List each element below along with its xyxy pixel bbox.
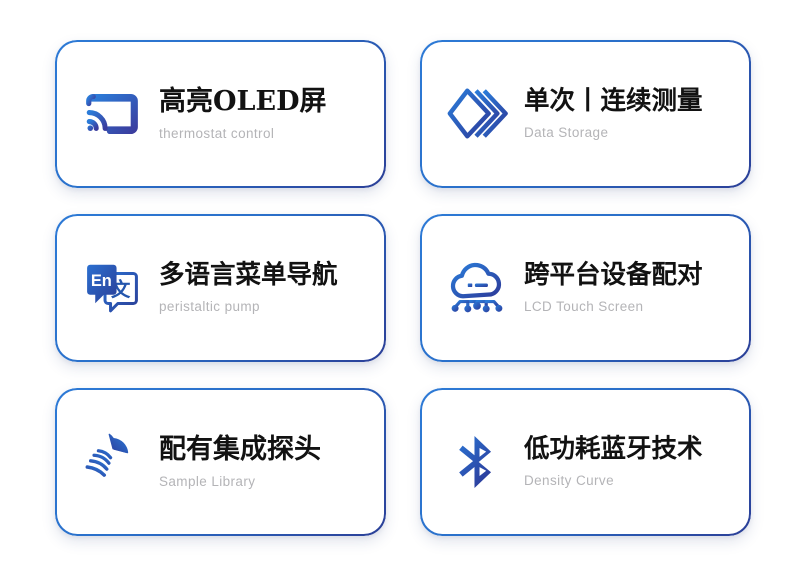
card-text: 配有集成探头 Sample Library (159, 434, 368, 491)
card-subtitle: peristaltic pump (159, 299, 368, 315)
feature-card-measurement-mode[interactable]: 单次丨连续测量 Data Storage (420, 40, 751, 188)
feature-card-multilingual-menu[interactable]: 文 En 多语言菜单导航 peristaltic pump (55, 214, 386, 362)
feature-card-cross-platform-pairing[interactable]: 跨平台设备配对 LCD Touch Screen (420, 214, 751, 362)
cloud-network-icon (440, 251, 514, 325)
translate-icon: 文 En (75, 251, 149, 325)
card-title: 跨平台设备配对 (524, 261, 733, 291)
bluetooth-icon (440, 425, 514, 499)
feature-card-oled-screen[interactable]: 高亮OLED屏 thermostat control (55, 40, 386, 188)
feature-card-integrated-probe[interactable]: 配有集成探头 Sample Library (55, 388, 386, 536)
translate-source-label: En (91, 272, 112, 290)
card-subtitle: thermostat control (159, 126, 368, 142)
card-subtitle: Data Storage (524, 125, 733, 141)
card-title: 配有集成探头 (159, 434, 368, 465)
card-subtitle: Sample Library (159, 474, 368, 490)
card-subtitle: LCD Touch Screen (524, 299, 733, 315)
card-subtitle: Density Curve (524, 473, 733, 489)
card-title: 多语言菜单导航 (159, 261, 368, 291)
card-title: 高亮OLED屏 (159, 86, 368, 117)
card-title: 单次丨连续测量 (524, 87, 733, 117)
card-text: 单次丨连续测量 Data Storage (524, 87, 733, 142)
card-text: 低功耗蓝牙技术 Density Curve (524, 435, 733, 490)
feature-card-bluetooth-low-energy[interactable]: 低功耗蓝牙技术 Density Curve (420, 388, 751, 536)
satellite-signal-icon (75, 425, 149, 499)
card-text: 跨平台设备配对 LCD Touch Screen (524, 261, 733, 316)
card-text: 高亮OLED屏 thermostat control (159, 86, 368, 143)
stacked-layers-icon (440, 77, 514, 151)
card-text: 多语言菜单导航 peristaltic pump (159, 261, 368, 316)
feature-card-grid: 高亮OLED屏 thermostat control 单次丨连续测量 Data … (0, 0, 800, 569)
card-title: 低功耗蓝牙技术 (524, 435, 733, 465)
screen-cast-icon (75, 77, 149, 151)
